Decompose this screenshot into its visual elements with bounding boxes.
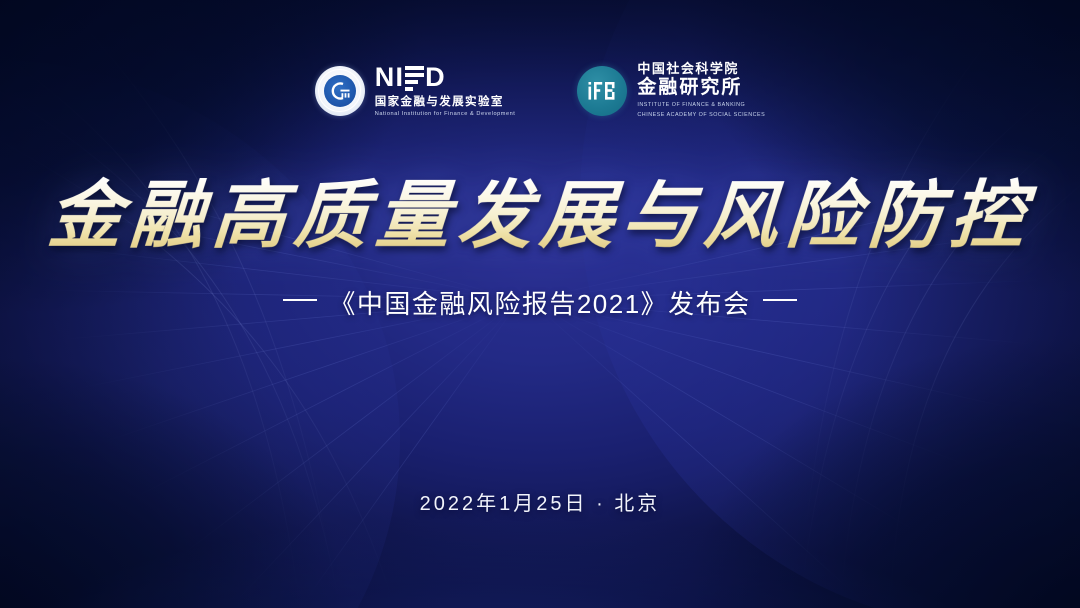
nifd-wordmark: NID: [375, 64, 446, 91]
ifb-name-en-line2: CHINESE ACADEMY OF SOCIAL SCIENCES: [637, 112, 765, 119]
logo-bar: NID 国家金融与发展实验室 National Institution for …: [0, 62, 1080, 120]
nifd-name-en: National Institution for Finance & Devel…: [375, 111, 516, 119]
subtitle-rule-right: [763, 299, 797, 301]
nifd-seal-icon: [315, 66, 365, 116]
nifd-letter-i: I: [395, 64, 404, 91]
nifd-text-block: NID 国家金融与发展实验室 National Institution for …: [375, 64, 516, 119]
nifd-letter-f-stripes: [405, 64, 424, 91]
subtitle-rule-left: [283, 299, 317, 301]
ifb-name-cn-line1: 中国社会科学院: [637, 62, 739, 76]
main-title: 金融高质量发展与风险防控: [39, 176, 1041, 259]
logo-ifb: 中国社会科学院 金融研究所 INSTITUTE OF FINANCE & BAN…: [577, 62, 765, 120]
ifb-name-en-line1: INSTITUTE OF FINANCE & BANKING: [637, 102, 745, 109]
nifd-letter-d: D: [425, 64, 446, 91]
main-title-wrap: 金融高质量发展与风险防控: [0, 176, 1080, 259]
subtitle: 《中国金融风险报告2021》发布会: [0, 284, 1080, 321]
ifb-text-block: 中国社会科学院 金融研究所 INSTITUTE OF FINANCE & BAN…: [637, 62, 765, 120]
nifd-name-cn: 国家金融与发展实验室: [375, 95, 504, 109]
logo-nifd: NID 国家金融与发展实验室 National Institution for …: [315, 64, 516, 119]
ifb-name-cn-line2: 金融研究所: [637, 77, 742, 99]
nifd-letter-n: N: [375, 64, 396, 91]
date-location: 2022年1月25日 · 北京: [0, 487, 1080, 516]
slide-content: NID 国家金融与发展实验室 National Institution for …: [0, 0, 1080, 608]
ifb-disc-icon: [577, 66, 627, 116]
nifd-seal-core: [324, 75, 356, 107]
presentation-slide: NID 国家金融与发展实验室 National Institution for …: [0, 0, 1080, 608]
subtitle-text: 《中国金融风险报告2021》发布会: [329, 289, 750, 319]
